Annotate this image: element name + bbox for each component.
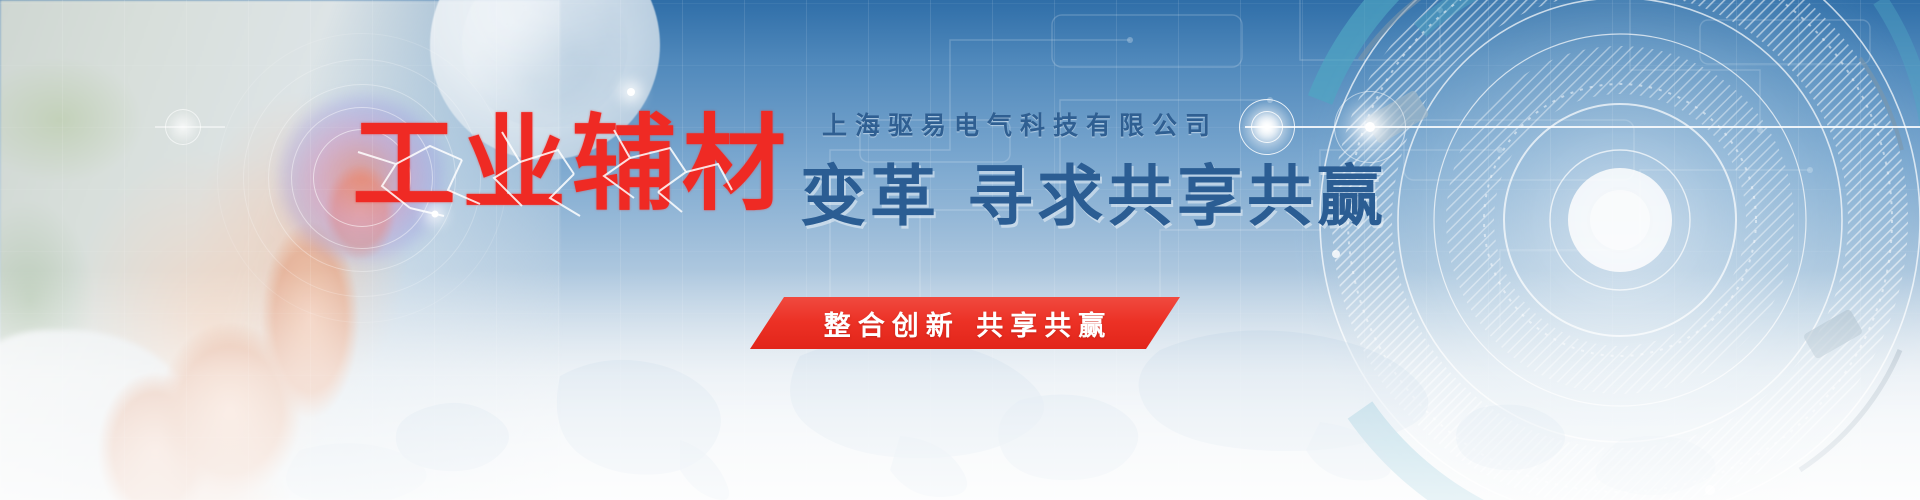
- promotional-banner: 工业辅材 上海驱易电气科技有限公司 变革 寻求共享共赢 整合创新 共享共赢: [0, 0, 1920, 500]
- slogan-ribbon: 整合创新 共享共赢: [750, 297, 1180, 349]
- banner-content: 工业辅材 上海驱易电气科技有限公司 变革 寻求共享共赢 整合创新 共享共赢: [0, 0, 1920, 500]
- banner-headline: 变革 寻求共享共赢: [800, 160, 1387, 234]
- banner-title-red: 工业辅材: [352, 112, 792, 216]
- company-name: 上海驱易电气科技有限公司: [822, 112, 1218, 140]
- slogan-text: 整合创新 共享共赢: [750, 297, 1180, 349]
